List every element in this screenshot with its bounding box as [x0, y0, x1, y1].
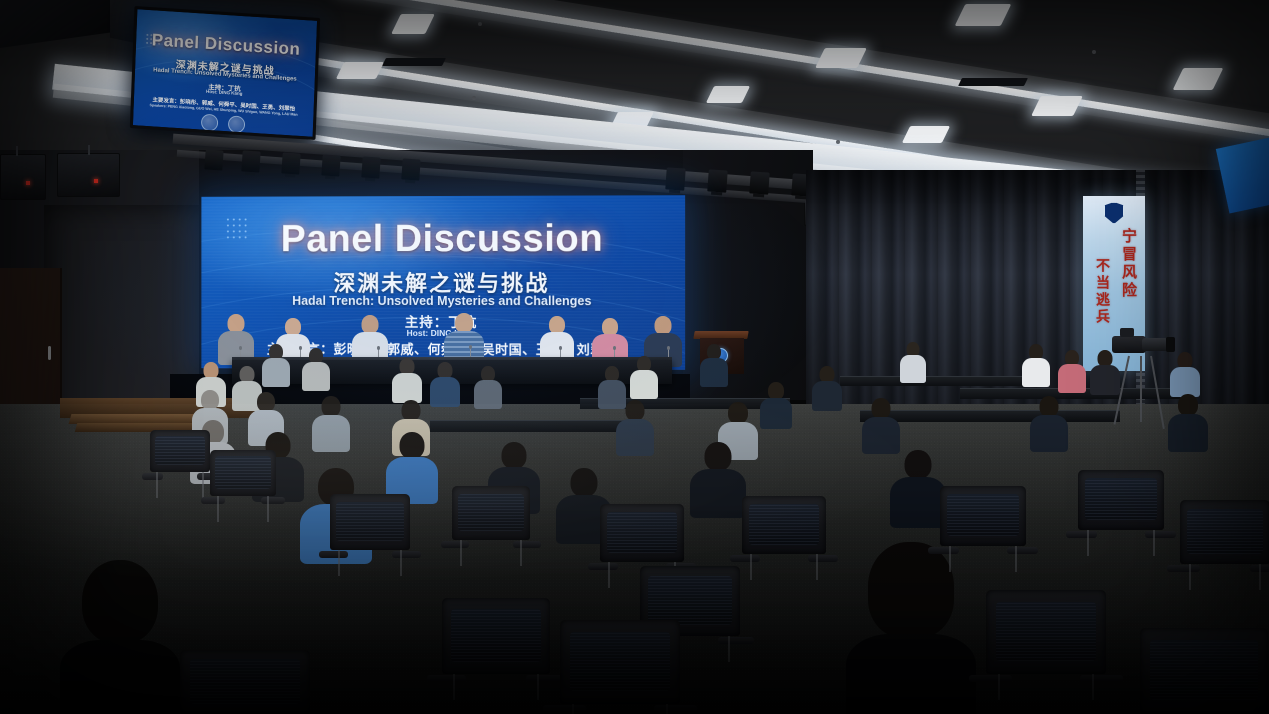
banner-text-right: 宁冒风险: [1118, 228, 1139, 300]
institution-logo-2: [228, 115, 246, 133]
shield-emblem-icon: [1104, 202, 1124, 224]
stage-spotlight: [321, 154, 340, 176]
conference-hall-photo: Panel Discussion 深渊未解之谜与挑战 Hadal Trench:…: [0, 0, 1269, 714]
institution-logo-1: [201, 114, 219, 132]
audience-member: [474, 366, 502, 408]
wall-speaker: [57, 153, 120, 197]
banner-text-left: 不当逃兵: [1091, 258, 1111, 326]
recessed-ceiling-light: [955, 4, 1012, 26]
stage-spotlight: [401, 158, 420, 180]
screen-title: Panel Discussion: [201, 217, 685, 261]
video-camera-body: [1112, 336, 1146, 353]
stage-spotlight: [281, 152, 300, 174]
audience-member: [262, 344, 290, 386]
overhead-monitor: Panel Discussion 深渊未解之谜与挑战 Hadal Trench:…: [130, 6, 320, 140]
audience-member: [1090, 350, 1120, 394]
audience-member: [1058, 350, 1086, 392]
camera-lens: [1142, 338, 1168, 351]
audience-member: [630, 356, 658, 398]
stage-spotlight: [204, 149, 223, 170]
audience-member: [430, 362, 460, 406]
floor-shadow-gradient: [0, 404, 1269, 714]
recessed-ceiling-light: [391, 14, 435, 34]
audience-member: [392, 358, 422, 402]
audience-member: [900, 342, 926, 382]
recessed-ceiling-light: [336, 62, 384, 79]
audience-member: [700, 344, 728, 386]
ceiling-vent: [958, 78, 1028, 86]
wall-speaker: [0, 154, 46, 200]
audience-member: [1170, 352, 1200, 396]
stage-spotlight: [707, 169, 727, 192]
camera-viewfinder: [1120, 328, 1134, 337]
audience-member: [302, 348, 330, 390]
audience-member: [1022, 344, 1050, 386]
recessed-ceiling-light: [902, 126, 950, 143]
recessed-ceiling-light: [1173, 68, 1224, 90]
recessed-ceiling-light: [706, 86, 750, 103]
screen-subtitle-en: Hadal Trench: Unsolved Mysteries and Cha…: [201, 294, 685, 308]
ceiling-vent: [382, 58, 446, 66]
stage-spotlight: [749, 171, 769, 194]
stage-spotlight: [665, 167, 685, 190]
stage-spotlight: [241, 150, 260, 172]
camera-lens-hood: [1166, 337, 1175, 352]
audience-table: [840, 376, 1030, 386]
door-handle[interactable]: [48, 346, 51, 360]
stage-spotlight: [361, 156, 380, 178]
